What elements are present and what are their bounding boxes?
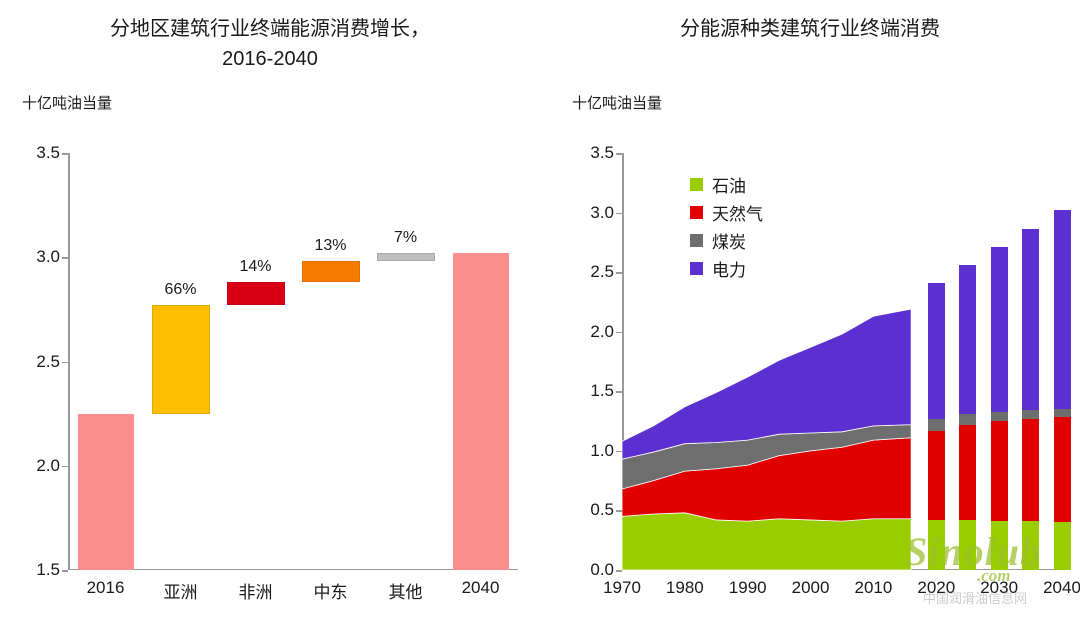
left-x-tick-label: 亚洲 — [164, 578, 198, 603]
left-chart-title-line2: 2016-2040 — [0, 44, 540, 74]
left-x-tick-label: 其他 — [389, 578, 423, 603]
left-chart-title-line1: 分地区建筑行业终端能源消费增长， — [0, 14, 540, 44]
left-y-tick — [62, 257, 68, 259]
right-y-tick-label: 0.0 — [572, 560, 614, 580]
left-chart-panel: 分地区建筑行业终端能源消费增长， 2016-2040 十亿吨油当量 1.52.0… — [0, 0, 540, 618]
waterfall-bar[interactable] — [78, 414, 134, 570]
right-x-tick-label: 1980 — [666, 578, 704, 598]
right-x-tick-label: 1970 — [603, 578, 641, 598]
left-y-tick-label: 2.5 — [18, 352, 60, 372]
stacked-bar-segment-石油 — [1054, 522, 1071, 570]
waterfall-bar[interactable] — [152, 305, 210, 413]
left-y-tick — [62, 153, 68, 155]
stacked-bar[interactable] — [991, 153, 1008, 570]
right-x-tick-label: 2040 — [1043, 578, 1080, 598]
stacked-bar-segment-天然气 — [959, 425, 976, 520]
right-chart-y-unit: 十亿吨油当量 — [572, 92, 662, 113]
right-x-tick-label: 1990 — [729, 578, 767, 598]
right-y-tick-label: 0.5 — [572, 500, 614, 520]
stacked-bar[interactable] — [928, 153, 945, 570]
left-chart-x-axis — [68, 569, 518, 571]
stacked-bar-segment-电力 — [991, 247, 1008, 411]
right-y-tick-label: 1.0 — [572, 441, 614, 461]
stacked-bar-segment-煤炭 — [991, 412, 1008, 422]
stacked-bar-segment-煤炭 — [928, 419, 945, 431]
right-y-tick-label: 2.0 — [572, 322, 614, 342]
right-y-tick — [616, 570, 622, 572]
right-x-tick-label: 2010 — [855, 578, 893, 598]
right-chart-y-tick-labels: 0.00.51.01.52.02.53.03.5 — [572, 153, 614, 570]
stacked-bar[interactable] — [959, 153, 976, 570]
waterfall-bar-value-label: 14% — [239, 258, 271, 276]
left-y-tick-label: 3.5 — [18, 143, 60, 163]
right-x-tick-label: 2020 — [917, 578, 955, 598]
waterfall-bar-value-label: 13% — [314, 237, 346, 255]
stacked-bar-segment-电力 — [1054, 210, 1071, 409]
legend-item-石油[interactable]: 石油 — [690, 170, 763, 198]
legend-item-煤炭[interactable]: 煤炭 — [690, 226, 763, 254]
stacked-bar-segment-煤炭 — [1022, 410, 1039, 418]
stacked-bar-segment-天然气 — [928, 431, 945, 520]
stacked-bar-segment-电力 — [1022, 229, 1039, 410]
stacked-bar-segment-煤炭 — [959, 414, 976, 425]
stacked-bar-segment-电力 — [959, 265, 976, 414]
stacked-bar-segment-石油 — [928, 520, 945, 570]
waterfall-bar-value-label: 66% — [164, 281, 196, 299]
left-y-tick-label: 3.0 — [18, 247, 60, 267]
right-x-tick-label: 2000 — [792, 578, 830, 598]
legend-item-label: 天然气 — [712, 200, 763, 225]
right-y-tick-label: 2.5 — [572, 262, 614, 282]
right-chart-title: 分能源种类建筑行业终端消费 — [540, 14, 1080, 44]
stacked-bar-segment-石油 — [959, 520, 976, 570]
left-x-tick-label: 2016 — [87, 578, 125, 598]
waterfall-bar[interactable] — [227, 282, 285, 305]
legend-item-label: 电力 — [712, 256, 746, 281]
left-x-tick-label: 非洲 — [239, 578, 273, 603]
legend-item-label: 煤炭 — [712, 228, 746, 253]
right-chart-legend: 石油天然气煤炭电力 — [690, 170, 763, 282]
left-y-tick-label: 1.5 — [18, 560, 60, 580]
stacked-bar-segment-电力 — [928, 283, 945, 419]
waterfall-bar[interactable] — [302, 261, 360, 282]
waterfall-bar[interactable] — [453, 253, 509, 570]
right-y-tick-label: 1.5 — [572, 381, 614, 401]
left-chart-plot-area: 66%14%13%7% — [68, 153, 518, 570]
stacked-bar-segment-煤炭 — [1054, 409, 1071, 417]
left-chart-y-unit: 十亿吨油当量 — [22, 92, 112, 113]
stacked-bar-segment-石油 — [991, 521, 1008, 570]
right-chart-plot-area — [622, 153, 1062, 570]
left-x-tick-label: 中东 — [314, 578, 348, 603]
right-y-tick-label: 3.5 — [572, 143, 614, 163]
stacked-bar[interactable] — [1054, 153, 1071, 570]
area-band-石油 — [622, 513, 911, 570]
left-y-tick — [62, 362, 68, 364]
stacked-bar[interactable] — [1022, 153, 1039, 570]
legend-swatch-icon — [690, 234, 703, 247]
legend-item-label: 石油 — [712, 172, 746, 197]
left-chart-y-tick-labels: 1.52.02.53.03.5 — [18, 153, 60, 570]
left-y-tick — [62, 570, 68, 572]
legend-swatch-icon — [690, 262, 703, 275]
legend-item-电力[interactable]: 电力 — [690, 254, 763, 282]
stacked-bar-segment-天然气 — [1022, 419, 1039, 521]
left-y-tick-label: 2.0 — [18, 456, 60, 476]
right-y-tick-label: 3.0 — [572, 203, 614, 223]
waterfall-bar[interactable] — [377, 253, 435, 261]
legend-item-天然气[interactable]: 天然气 — [690, 198, 763, 226]
waterfall-bar-value-label: 7% — [394, 229, 417, 247]
legend-swatch-icon — [690, 178, 703, 191]
left-chart-y-axis — [68, 153, 70, 570]
right-x-tick-label: 2030 — [980, 578, 1018, 598]
left-y-tick — [62, 466, 68, 468]
stacked-bar-segment-石油 — [1022, 521, 1039, 570]
stacked-bar-segment-天然气 — [991, 421, 1008, 521]
stacked-bar-segment-天然气 — [1054, 417, 1071, 522]
left-chart-title: 分地区建筑行业终端能源消费增长， 2016-2040 — [0, 14, 540, 74]
legend-swatch-icon — [690, 206, 703, 219]
left-x-tick-label: 2040 — [462, 578, 500, 598]
